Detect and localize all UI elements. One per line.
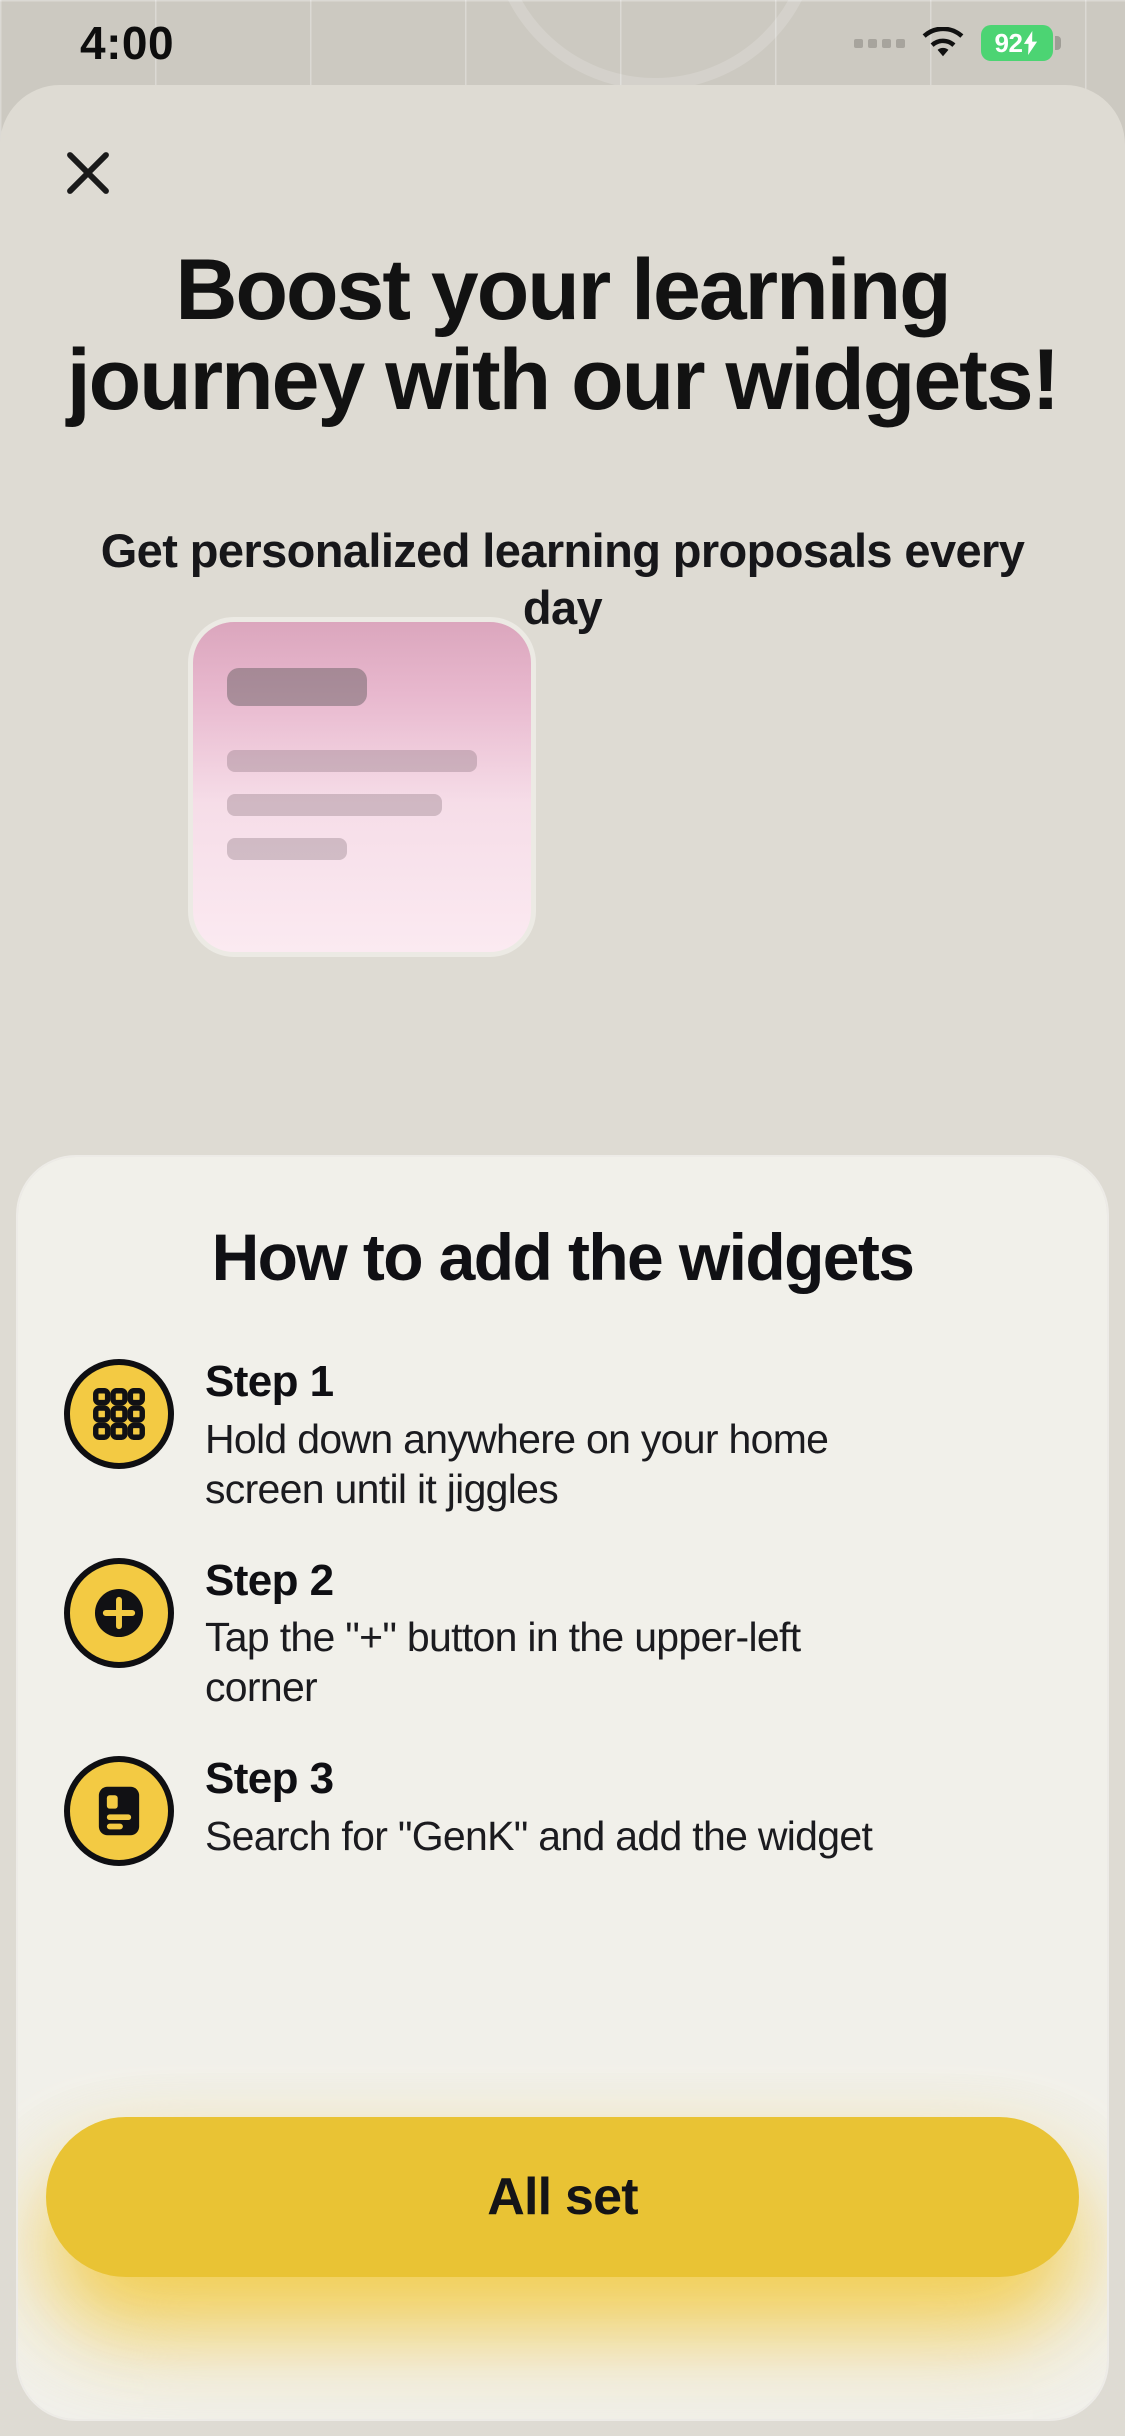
close-button[interactable] (40, 125, 136, 221)
battery-charging-icon: 92 (981, 25, 1053, 61)
step-3-text: Step 3 Search for "GenK" and add the wid… (205, 1750, 872, 1861)
sheet-title: How to add the widgets (18, 1219, 1107, 1295)
step-2-name: Step 2 (205, 1556, 895, 1607)
step-3-badge (64, 1756, 174, 1866)
grid-apps-icon (88, 1383, 150, 1445)
plus-circle-icon (88, 1582, 150, 1644)
list-item: Step 1 Hold down anywhere on your home s… (64, 1353, 1061, 1514)
wifi-icon (922, 27, 964, 59)
widget-card-icon (88, 1780, 150, 1842)
all-set-button[interactable]: All set (46, 2117, 1079, 2277)
steps-list: Step 1 Hold down anywhere on your home s… (18, 1353, 1107, 1866)
how-to-sheet: How to add the widgets (18, 1157, 1107, 2419)
step-3-description: Search for "GenK" and add the widget (205, 1811, 872, 1861)
step-1-text: Step 1 Hold down anywhere on your home s… (205, 1353, 895, 1514)
widget-preview-card (188, 617, 536, 957)
step-2-description: Tap the "+" button in the upper-left cor… (205, 1612, 895, 1712)
status-bar-time: 4:00 (80, 16, 174, 70)
status-bar: 4:00 92 (0, 0, 1125, 86)
step-2-text: Step 2 Tap the "+" button in the upper-l… (205, 1552, 895, 1713)
step-3-name: Step 3 (205, 1754, 872, 1805)
widget-preview (188, 617, 536, 957)
widget-preview-line (227, 750, 477, 772)
list-item: Step 2 Tap the "+" button in the upper-l… (64, 1552, 1061, 1713)
signal-dots-icon (854, 39, 905, 48)
step-2-badge (64, 1558, 174, 1668)
widget-preview-line (227, 794, 442, 816)
close-icon (61, 146, 115, 200)
status-bar-indicators: 92 (854, 25, 1053, 61)
step-1-badge (64, 1359, 174, 1469)
hero-section: Boost your learning journey with our wid… (0, 245, 1125, 636)
widget-preview-pill (227, 668, 367, 706)
cta-area: All set (18, 2079, 1107, 2419)
phone-screen: 4:00 92 Boost your (0, 0, 1125, 2436)
step-1-name: Step 1 (205, 1357, 895, 1408)
charging-bolt-icon (1022, 31, 1039, 55)
page-title: Boost your learning journey with our wid… (42, 245, 1083, 426)
list-item: Step 3 Search for "GenK" and add the wid… (64, 1750, 1061, 1866)
battery-percent-label: 92 (995, 28, 1023, 59)
step-1-description: Hold down anywhere on your home screen u… (205, 1414, 895, 1514)
widget-preview-line (227, 838, 347, 860)
